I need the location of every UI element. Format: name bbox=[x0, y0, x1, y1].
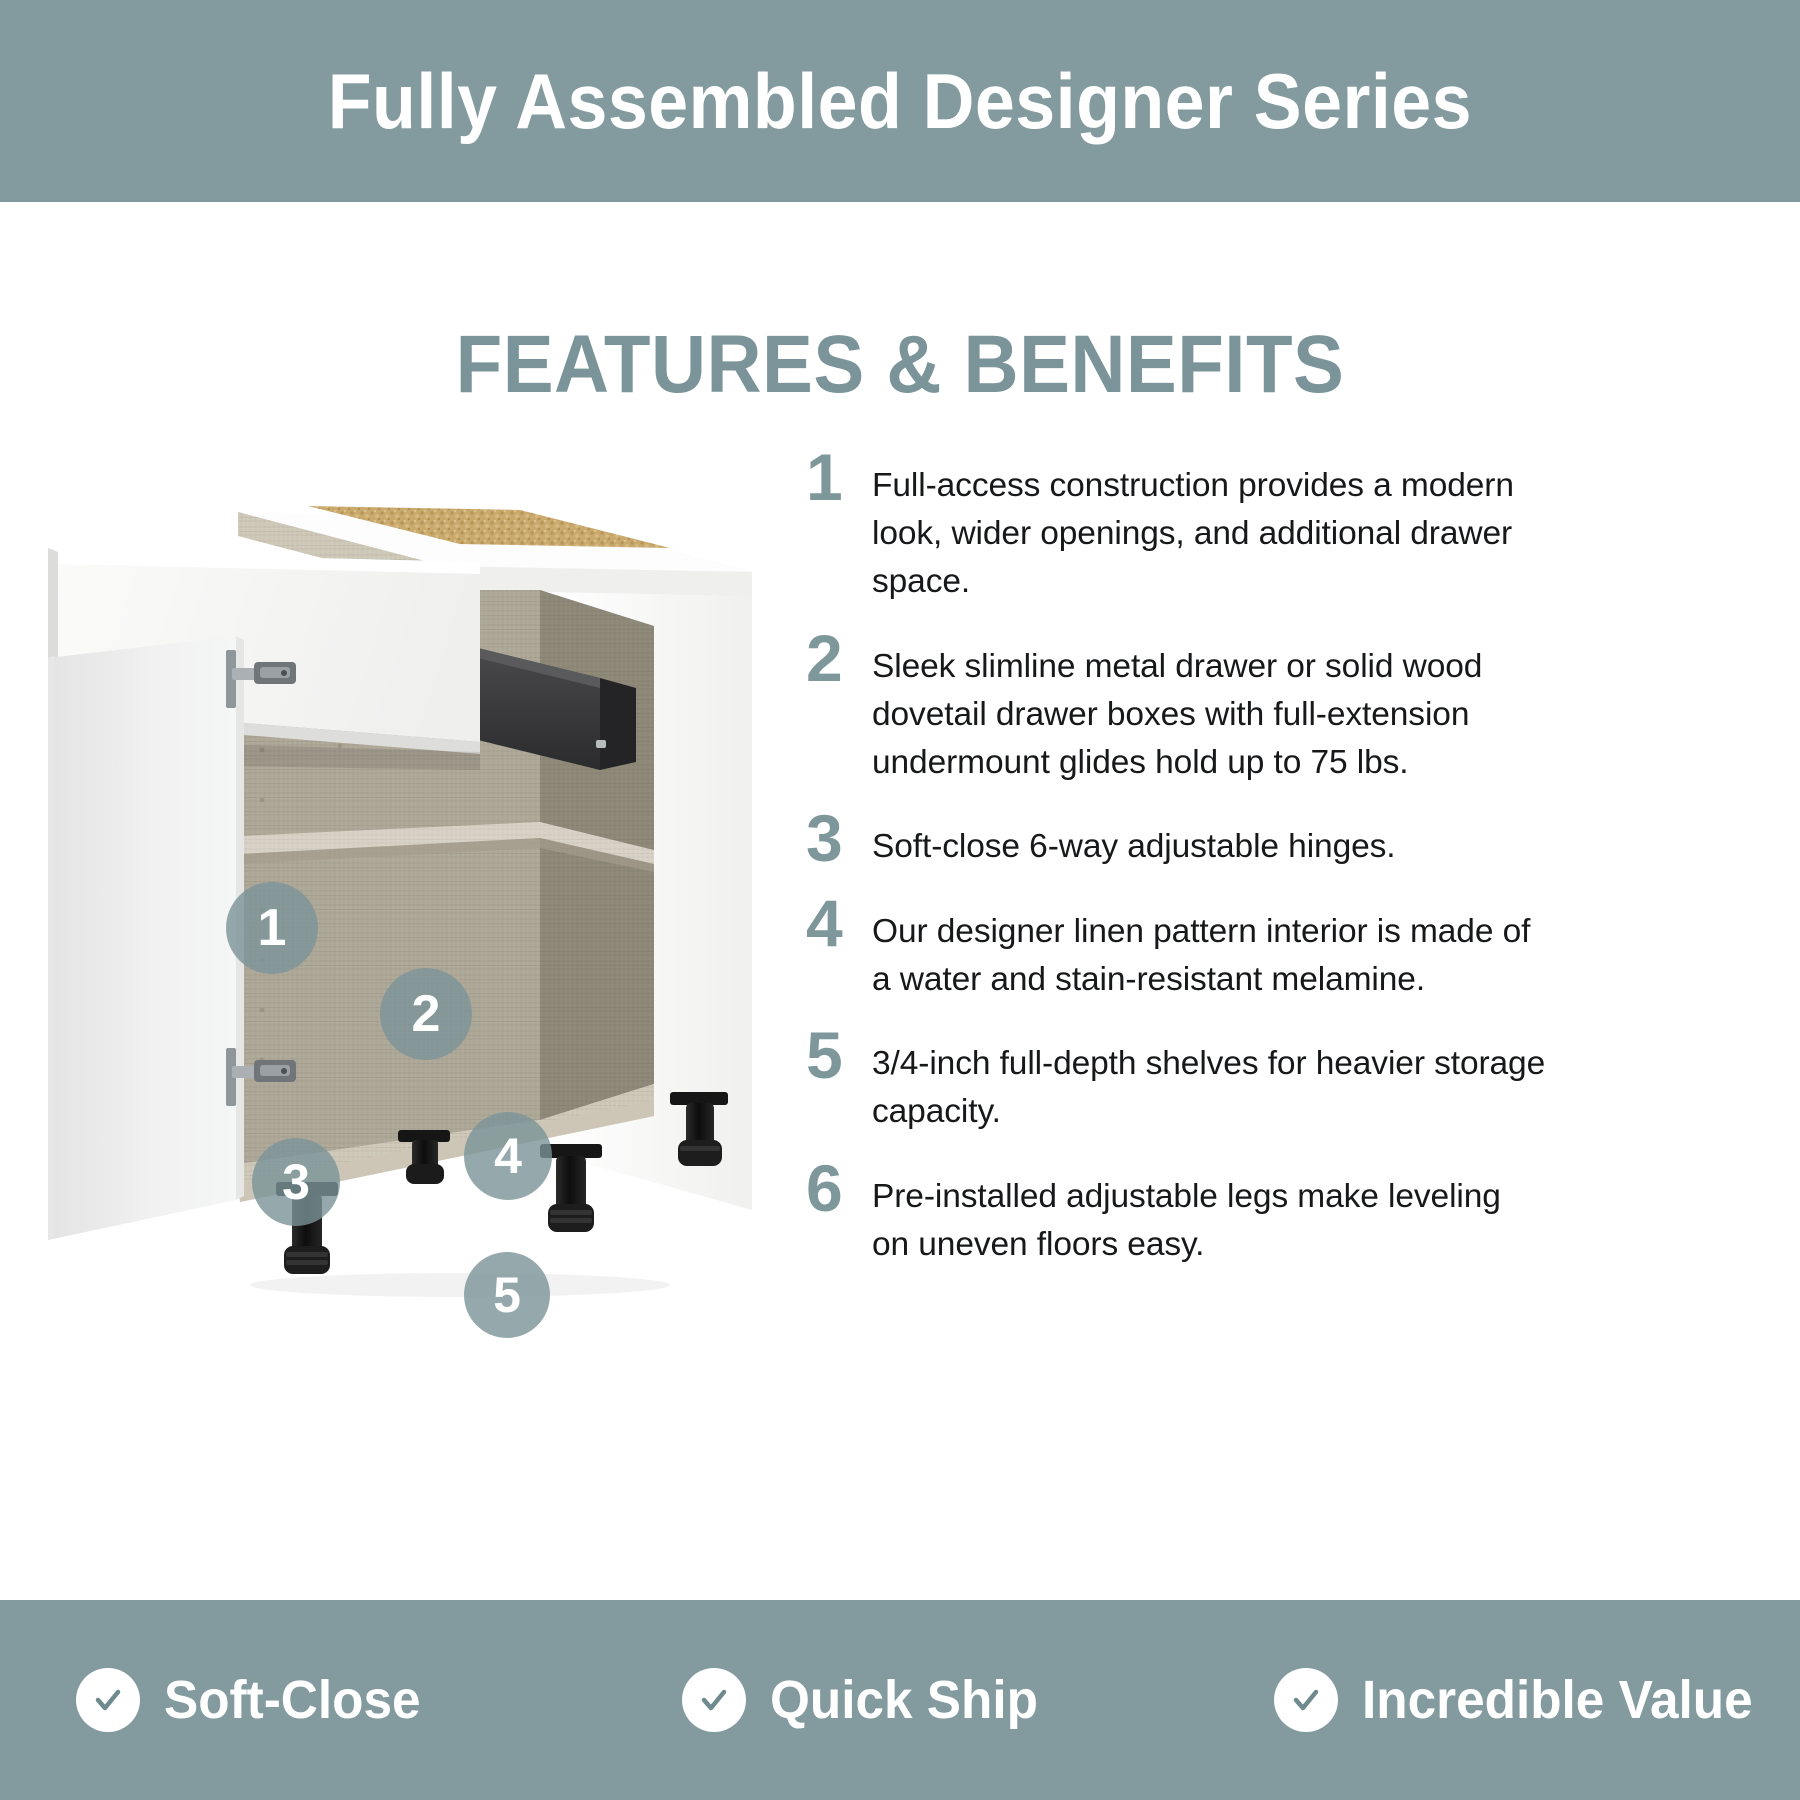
cabinet-svg bbox=[40, 440, 800, 1360]
feature-number-4: 4 bbox=[806, 894, 872, 952]
feature-text-6: Pre-installed adjustable legs make level… bbox=[872, 1163, 1546, 1269]
product-illustration: 1 2 3 4 5 6 bbox=[40, 440, 800, 1360]
feature-item-4: 4 Our designer linen pattern interior is… bbox=[806, 898, 1546, 1004]
feature-number-3: 3 bbox=[806, 809, 872, 867]
feature-item-3: 3 Soft-close 6-way adjustable hinges. bbox=[806, 813, 1546, 871]
callout-badge-3[interactable]: 3 bbox=[252, 1138, 340, 1226]
check-circle-icon bbox=[76, 1668, 140, 1732]
callout-badge-1[interactable]: 1 bbox=[226, 882, 318, 974]
callout-badge-4[interactable]: 4 bbox=[464, 1112, 552, 1200]
bottom-banner: Soft-Close Quick Ship Incredible Value bbox=[0, 1600, 1800, 1800]
feature-item-1: 1 Full-access construction provides a mo… bbox=[806, 452, 1546, 607]
check-circle-icon bbox=[1274, 1668, 1338, 1732]
badge-label-incredible-value: Incredible Value bbox=[1362, 1669, 1753, 1731]
badge-label-quick-ship: Quick Ship bbox=[770, 1669, 1038, 1731]
feature-number-6: 6 bbox=[806, 1159, 872, 1217]
callout-badge-2[interactable]: 2 bbox=[380, 968, 472, 1060]
feature-number-2: 2 bbox=[806, 629, 872, 687]
check-circle-icon bbox=[682, 1668, 746, 1732]
feature-text-2: Sleek slimline metal drawer or solid woo… bbox=[872, 633, 1546, 788]
feature-text-4: Our designer linen pattern interior is m… bbox=[872, 898, 1546, 1004]
callout-badge-5[interactable]: 5 bbox=[464, 1252, 550, 1338]
feature-item-6: 6 Pre-installed adjustable legs make lev… bbox=[806, 1163, 1546, 1269]
badge-label-soft-close: Soft-Close bbox=[164, 1669, 421, 1731]
feature-item-5: 5 3/4-inch full-depth shelves for heavie… bbox=[806, 1030, 1546, 1136]
feature-item-2: 2 Sleek slimline metal drawer or solid w… bbox=[806, 633, 1546, 788]
feature-number-5: 5 bbox=[806, 1026, 872, 1084]
feature-number-1: 1 bbox=[806, 448, 872, 506]
top-banner: Fully Assembled Designer Series bbox=[0, 0, 1800, 202]
badge-soft-close: Soft-Close bbox=[0, 1668, 602, 1732]
badge-incredible-value: Incredible Value bbox=[1208, 1668, 1800, 1732]
drawer-glide bbox=[596, 740, 606, 748]
page-title: Fully Assembled Designer Series bbox=[328, 56, 1472, 147]
feature-text-1: Full-access construction provides a mode… bbox=[872, 452, 1546, 607]
features-list: 1 Full-access construction provides a mo… bbox=[806, 452, 1546, 1295]
badge-quick-ship: Quick Ship bbox=[602, 1668, 1208, 1732]
feature-text-5: 3/4-inch full-depth shelves for heavier … bbox=[872, 1030, 1546, 1136]
section-heading: FEATURES & BENEFITS bbox=[63, 318, 1737, 412]
feature-text-3: Soft-close 6-way adjustable hinges. bbox=[872, 813, 1546, 871]
